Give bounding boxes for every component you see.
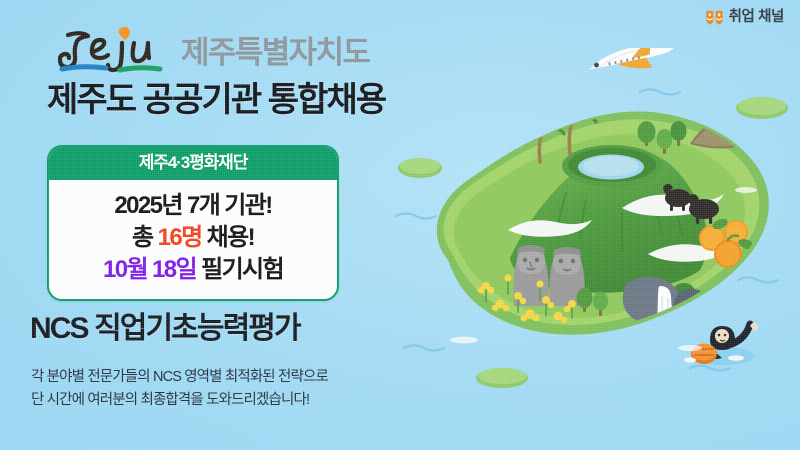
hire-suffix: 채용! — [202, 224, 254, 251]
left-content-column: 제주특별자치도 제주도 공공기관 통합채용 제주4·3평화재단 2025년 7개… — [0, 0, 470, 450]
card-line-3: 10월 18일 필기시험 — [49, 254, 337, 286]
ncs-title: NCS 직업기초능력평가 — [30, 314, 300, 344]
institution-count-text: 2025년 7개 기관! — [114, 192, 271, 219]
hire-count: 16명 — [158, 224, 202, 251]
mask-pair-icon — [705, 9, 724, 26]
card-line-1: 2025년 7개 기관! — [49, 190, 337, 222]
exam-label: 필기시험 — [196, 256, 283, 283]
ncs-description-line-1: 각 분야별 전문가들의 NCS 영역별 최적화된 전략으로 — [31, 366, 328, 389]
card-body: 2025년 7개 기관! 총 16명 채용! 10월 18일 필기시험 — [49, 180, 337, 299]
brand-label: 취업 채널 — [729, 10, 784, 25]
ncs-description: 각 분야별 전문가들의 NCS 영역별 최적화된 전략으로 단 시간에 여러분의… — [31, 366, 328, 413]
airplane — [586, 48, 679, 80]
promo-banner: 취업 채널 제주특별자치도 제주도 공공기관 통합채용 — [0, 0, 800, 450]
title-row: 제주특별자치도 — [58, 26, 369, 74]
page-title: 제주도 공공기관 통합채용 — [47, 80, 385, 120]
province-name: 제주특별자치도 — [181, 37, 369, 74]
ncs-description-line-2: 단 시간에 여러분의 최종합격을 도와드리겠습니다! — [31, 389, 328, 412]
hire-prefix: 총 — [132, 224, 158, 251]
jeju-wordmark-logo — [58, 26, 170, 74]
recruitment-info-card: 제주4·3평화재단 2025년 7개 기관! 총 16명 채용! 10월 18일… — [47, 145, 339, 301]
card-line-2: 총 16명 채용! — [49, 222, 337, 254]
brand-logo[interactable]: 취업 채널 — [705, 9, 784, 26]
exam-date: 10월 18일 — [103, 256, 196, 283]
haenyeo-diver — [684, 322, 758, 365]
institution-name: 제주4·3평화재단 — [49, 147, 337, 180]
